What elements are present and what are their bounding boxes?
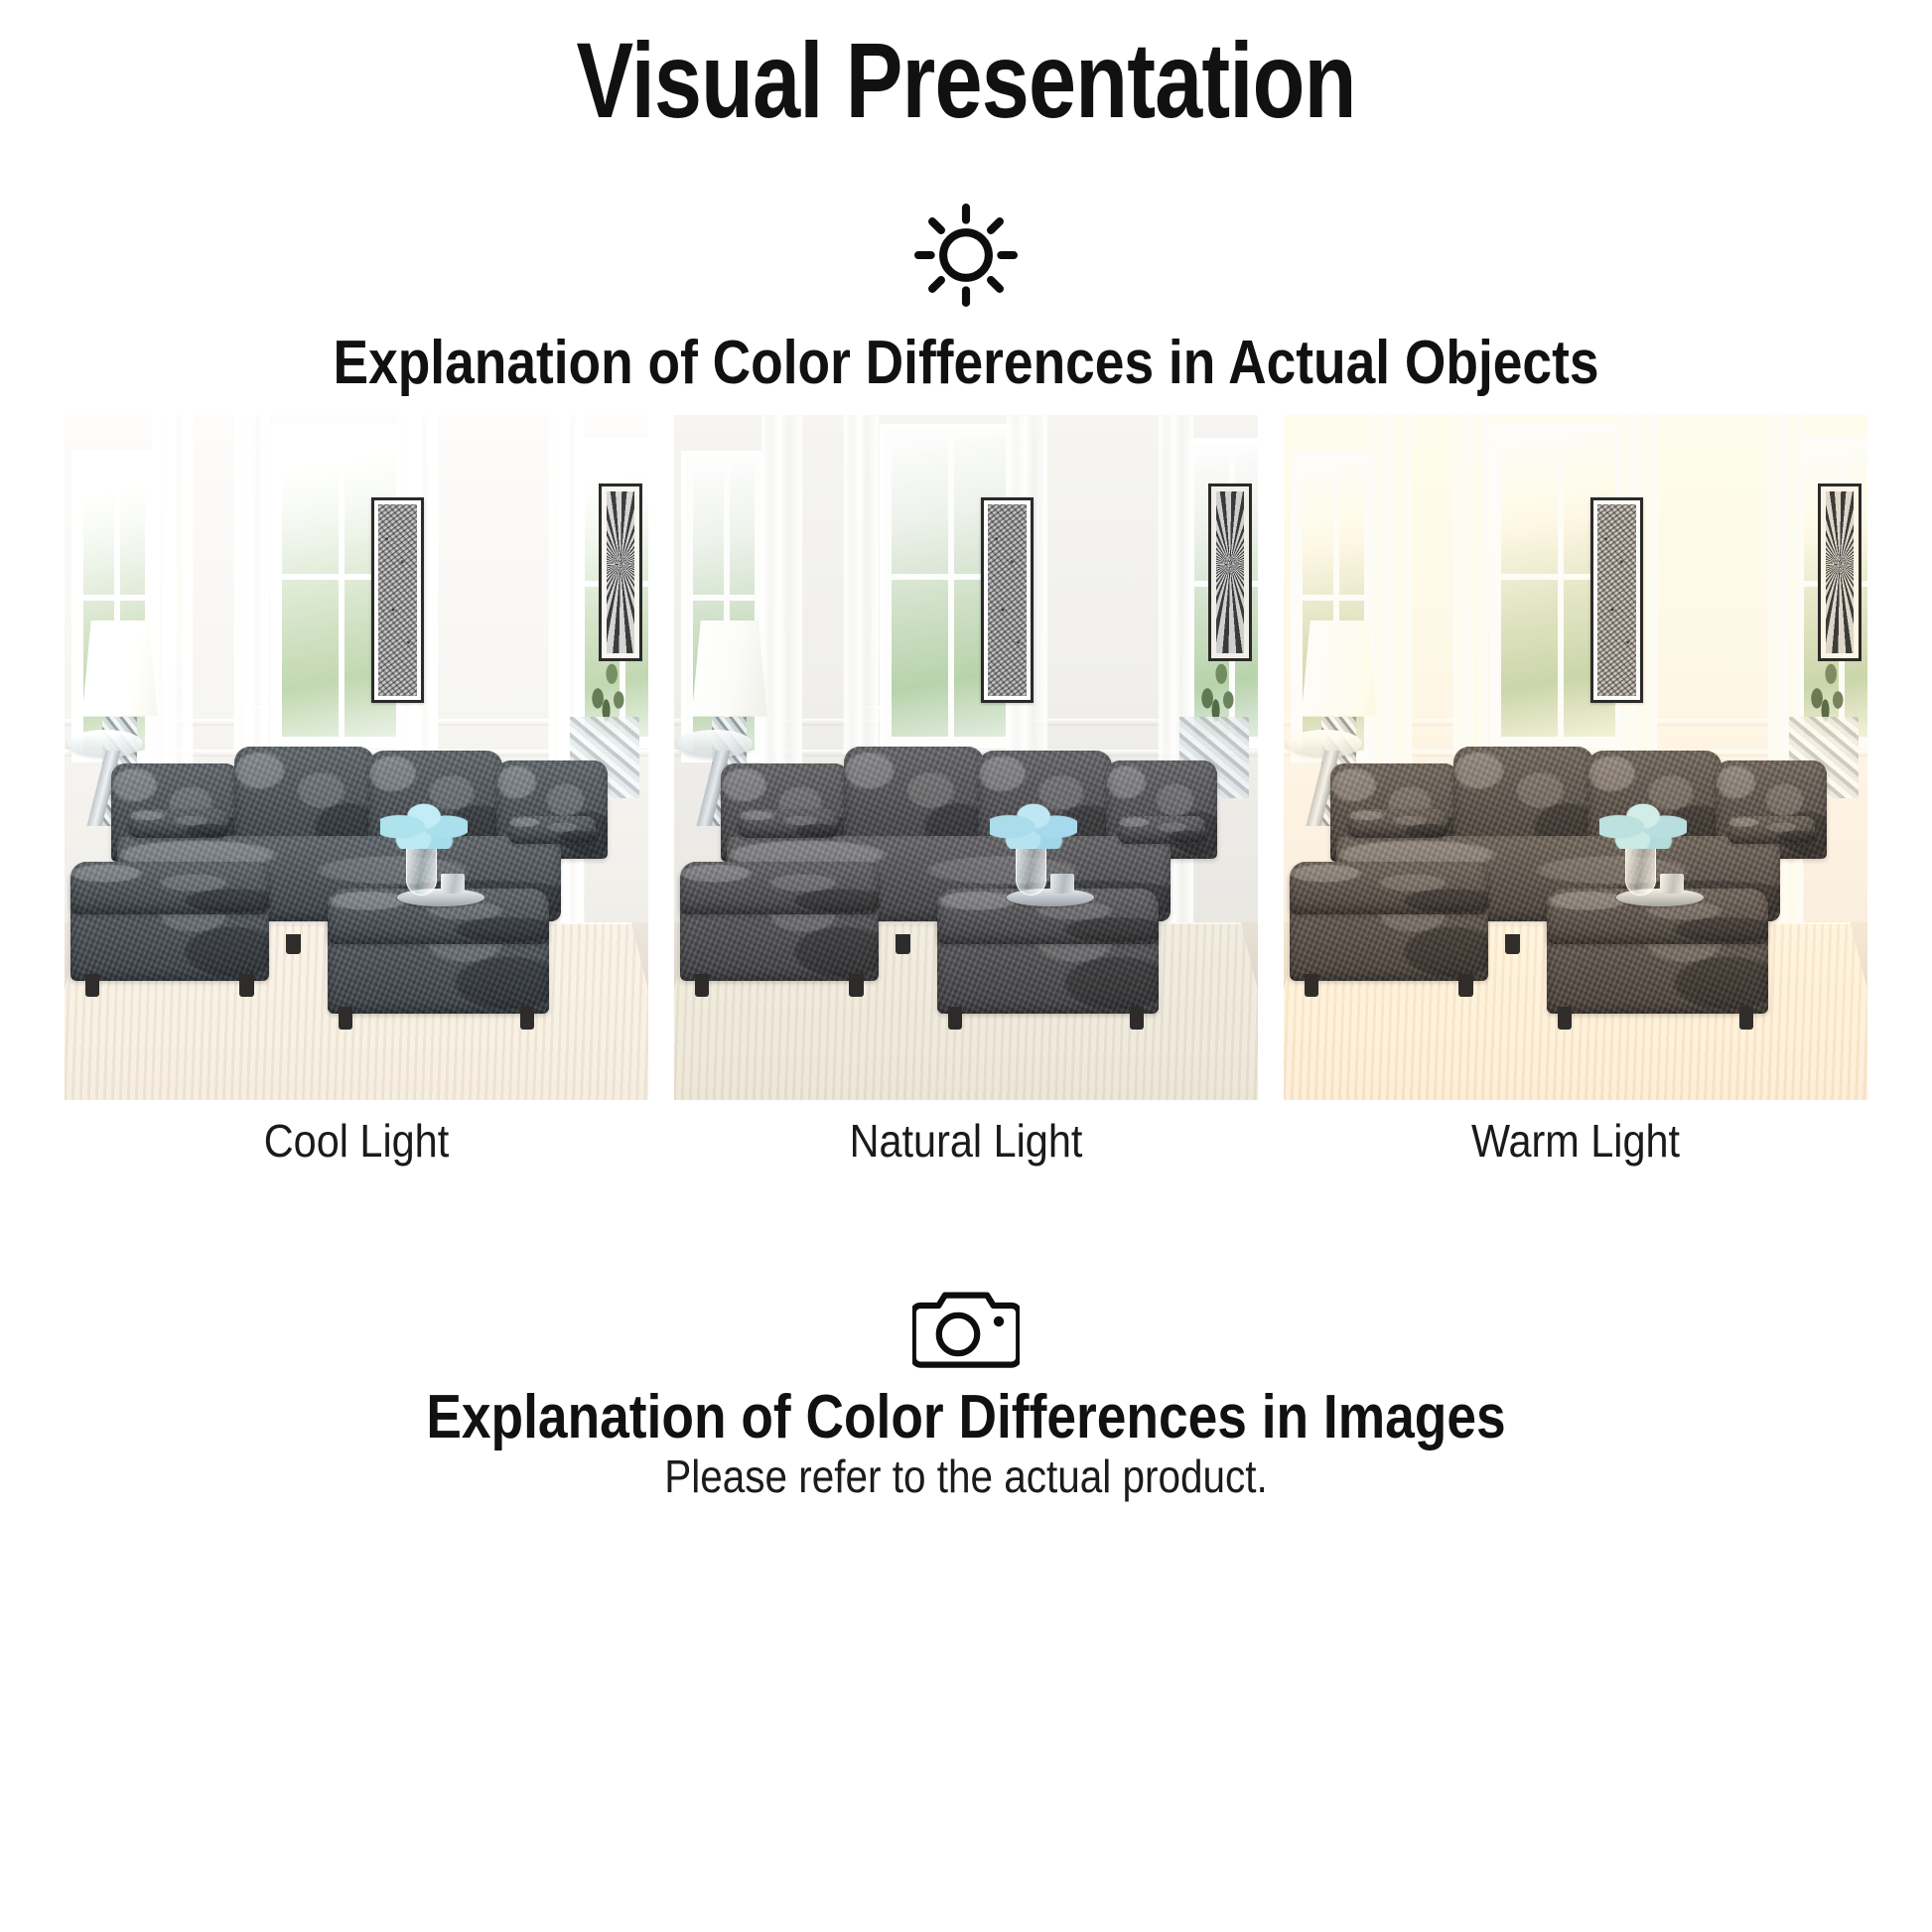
caption-cool-light: Cool Light — [93, 1114, 619, 1168]
framed-wall-art-secondary — [1818, 483, 1862, 661]
page-title: Visual Presentation — [194, 22, 1739, 140]
potted-plant — [1193, 641, 1240, 724]
framed-wall-art — [981, 497, 1034, 703]
panel-captions: Cool Light Natural Light Warm Light — [65, 1114, 1867, 1168]
table-lamp-shade — [1302, 621, 1377, 717]
sectional-sofa — [1284, 744, 1867, 1072]
room-photo-warm-light — [1284, 415, 1867, 1100]
camera-icon-container — [0, 1283, 1932, 1368]
framed-wall-art — [371, 497, 424, 703]
lighting-comparison-panels — [65, 415, 1867, 1100]
caption-warm-light: Warm Light — [1312, 1114, 1838, 1168]
potted-plant — [1803, 641, 1850, 724]
infographic-page: Visual Presentation Explanation of Color… — [0, 0, 1932, 1932]
hydrangea-flowers — [990, 796, 1077, 849]
table-lamp-shade — [692, 621, 767, 717]
hydrangea-flowers — [380, 796, 468, 849]
room-photo-natural-light — [674, 415, 1258, 1100]
hydrangea-flowers — [1599, 796, 1687, 849]
cup — [1660, 874, 1684, 894]
room-photo-cool-light — [65, 415, 648, 1100]
section-heading-images: Explanation of Color Differences in Imag… — [135, 1382, 1797, 1452]
sectional-sofa — [674, 744, 1258, 1072]
cup — [1050, 874, 1074, 894]
framed-wall-art-secondary — [599, 483, 642, 661]
camera-icon — [912, 1283, 1020, 1368]
table-lamp-shade — [82, 621, 158, 717]
sun-brightness-icon — [907, 197, 1025, 314]
caption-natural-light: Natural Light — [703, 1114, 1228, 1168]
section-subheading-disclaimer: Please refer to the actual product. — [116, 1449, 1816, 1503]
potted-plant — [584, 641, 630, 724]
cup — [441, 874, 465, 894]
framed-wall-art-secondary — [1208, 483, 1252, 661]
sectional-sofa — [65, 744, 648, 1072]
section-heading-actual-objects: Explanation of Color Differences in Actu… — [135, 328, 1797, 398]
device-mockups — [0, 1509, 1932, 1926]
sun-icon-container — [0, 197, 1932, 314]
framed-wall-art — [1590, 497, 1643, 703]
